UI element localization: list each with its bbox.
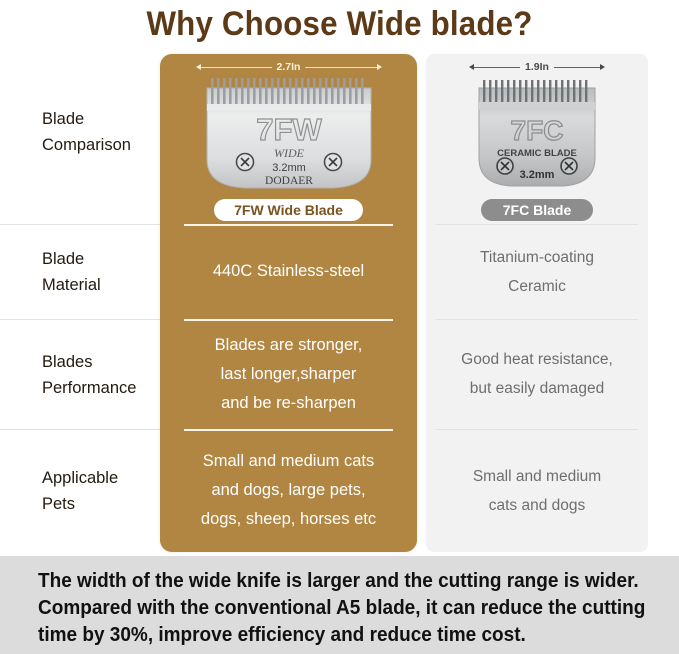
blade-model-text-7fc: 7FC — [511, 115, 564, 146]
cell-7fc-blades-performance: Good heat resistance, but easily damaged — [426, 319, 648, 429]
row-label-blades-performance: Blades Performance — [0, 319, 160, 429]
cell-7fw-blade-comparison: 2.7In — [160, 54, 417, 224]
cell-7fc-blade-material: Titanium-coating Ceramic — [426, 224, 648, 319]
cell-text-line: and be re-sharpen — [221, 389, 356, 418]
cell-text-line: Ceramic — [508, 272, 566, 301]
footer-description-band: The width of the wide knife is larger an… — [0, 556, 679, 654]
dimension-line — [305, 67, 376, 68]
column-7fc-blade[interactable]: 1.9In — [426, 54, 648, 552]
dimension-line — [474, 67, 520, 68]
cell-text-line: dogs, sheep, horses etc — [201, 505, 376, 534]
blade-image-7fw: 2.7In — [160, 54, 417, 224]
row-label-blade-comparison: Blade Comparison — [0, 54, 160, 224]
row-label-line: Blade — [42, 106, 160, 132]
cell-7fc-applicable-pets: Small and medium cats and dogs — [426, 429, 648, 552]
cell-text-line: Small and medium cats — [203, 447, 375, 476]
cell-7fc-blade-comparison: 1.9In — [426, 54, 648, 224]
blade-illustration-7fc: 7FC CERAMIC BLADE 3.2mm — [471, 74, 603, 194]
row-label-line: Blade — [42, 246, 160, 272]
dimension-line — [554, 67, 600, 68]
blade-sub-label-7fw: WIDE — [274, 146, 305, 160]
dimension-line — [201, 67, 272, 68]
row-label-line: Blades — [42, 349, 160, 375]
column-7fw-wide-blade[interactable]: 2.7In — [160, 54, 417, 552]
row-label-blade-material: Blade Material — [0, 224, 160, 319]
page-title: Why Choose Wide blade? — [27, 0, 652, 48]
comparison-table: Blade Comparison Blade Material Blades P… — [0, 54, 679, 552]
blade-name-pill-7fw: 7FW Wide Blade — [214, 199, 363, 221]
cell-text-line: last longer,sharper — [221, 360, 357, 389]
dimension-indicator-7fw: 2.7In — [196, 60, 382, 74]
footer-text-line: The width of the wide knife is larger an… — [38, 568, 615, 595]
blade-size-text-7fc: 3.2mm — [520, 169, 555, 181]
blade-size-text-7fw: 3.2mm — [272, 162, 306, 174]
row-label-column: Blade Comparison Blade Material Blades P… — [0, 54, 160, 552]
row-label-line: Applicable — [42, 465, 160, 491]
cell-7fw-applicable-pets: Small and medium cats and dogs, large pe… — [160, 429, 417, 552]
row-label-line: Pets — [42, 491, 160, 517]
blade-brand-text-7fw: DODAER — [265, 175, 313, 187]
cell-text-line: and dogs, large pets, — [211, 476, 365, 505]
footer-text-line: time by 30%, improve efficiency and redu… — [38, 622, 615, 649]
dimension-value: 2.7In — [272, 61, 306, 73]
row-label-line: Performance — [42, 375, 160, 401]
row-label-line: Comparison — [42, 132, 160, 158]
blade-model-text-7fw: 7FW — [256, 112, 322, 147]
cell-text-line: Titanium-coating — [480, 243, 594, 272]
cell-text-line: but easily damaged — [470, 374, 604, 403]
blade-image-7fc: 1.9In — [426, 54, 648, 224]
dimension-indicator-7fc: 1.9In — [469, 60, 605, 74]
cell-text-line: Good heat resistance, — [461, 345, 613, 374]
blade-name-pill-7fc: 7FC Blade — [481, 199, 593, 221]
row-label-line: Material — [42, 272, 160, 298]
cell-text-line: Blades are stronger, — [215, 331, 363, 360]
cell-text-line: Small and medium — [473, 462, 601, 491]
arrow-right-icon — [377, 64, 382, 70]
blade-illustration-7fw: 7FW WIDE 3.2mm DODAER — [199, 74, 379, 194]
cell-7fw-blades-performance: Blades are stronger, last longer,sharper… — [160, 319, 417, 429]
dimension-value: 1.9In — [520, 61, 554, 73]
row-label-applicable-pets: Applicable Pets — [0, 429, 160, 552]
cell-text-line: cats and dogs — [489, 491, 586, 520]
cell-7fw-blade-material: 440C Stainless-steel — [160, 224, 417, 319]
footer-text-line: Compared with the conventional A5 blade,… — [38, 595, 615, 622]
arrow-right-icon — [600, 64, 605, 70]
blade-sub-label-7fc: CERAMIC BLADE — [497, 148, 577, 159]
cell-text-line: 440C Stainless-steel — [213, 257, 364, 286]
